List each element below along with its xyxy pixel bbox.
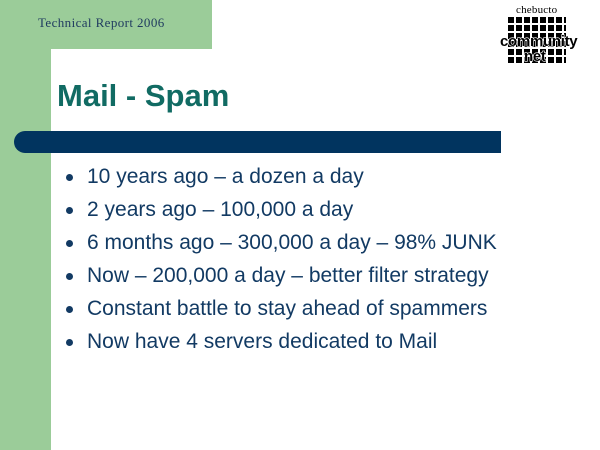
list-item: Constant battle to stay ahead of spammer… xyxy=(60,292,580,325)
header-label: Technical Report 2006 xyxy=(38,15,165,31)
bullet-dot-icon xyxy=(66,240,73,247)
bullet-dot-icon xyxy=(66,306,73,313)
slide-title: Mail - Spam xyxy=(57,78,229,114)
list-item: Now have 4 servers dedicated to Mail xyxy=(60,325,580,358)
presentation-slide: Technical Report 2006 chebucto community… xyxy=(0,0,600,450)
logo-text-chebucto: chebucto xyxy=(516,4,557,16)
list-item: 6 months ago – 300,000 a day – 98% JUNK xyxy=(60,226,580,259)
list-item-label: 10 years ago – a dozen a day xyxy=(87,165,364,188)
list-item: Now – 200,000 a day – better filter stra… xyxy=(60,259,580,292)
bullet-dot-icon xyxy=(66,207,73,214)
list-item: 2 years ago – 100,000 a day xyxy=(60,193,580,226)
list-item-label: Constant battle to stay ahead of spammer… xyxy=(87,297,487,320)
bullet-dot-icon xyxy=(66,273,73,280)
list-item: 10 years ago – a dozen a day xyxy=(60,160,580,193)
bullet-list: 10 years ago – a dozen a day 2 years ago… xyxy=(60,160,580,358)
list-item-label: 2 years ago – 100,000 a day xyxy=(87,198,353,221)
list-item-label: Now – 200,000 a day – better filter stra… xyxy=(87,264,489,287)
green-sidebar-decoration xyxy=(0,0,51,450)
list-item-label: Now have 4 servers dedicated to Mail xyxy=(87,330,437,353)
bullet-dot-icon xyxy=(66,174,73,181)
list-item-label: 6 months ago – 300,000 a day – 98% JUNK xyxy=(87,231,497,254)
logo-text-net: net xyxy=(524,48,546,65)
title-underline-bar xyxy=(14,131,501,153)
chebucto-community-net-logo: chebucto community net xyxy=(498,4,580,68)
bullet-dot-icon xyxy=(66,339,73,346)
